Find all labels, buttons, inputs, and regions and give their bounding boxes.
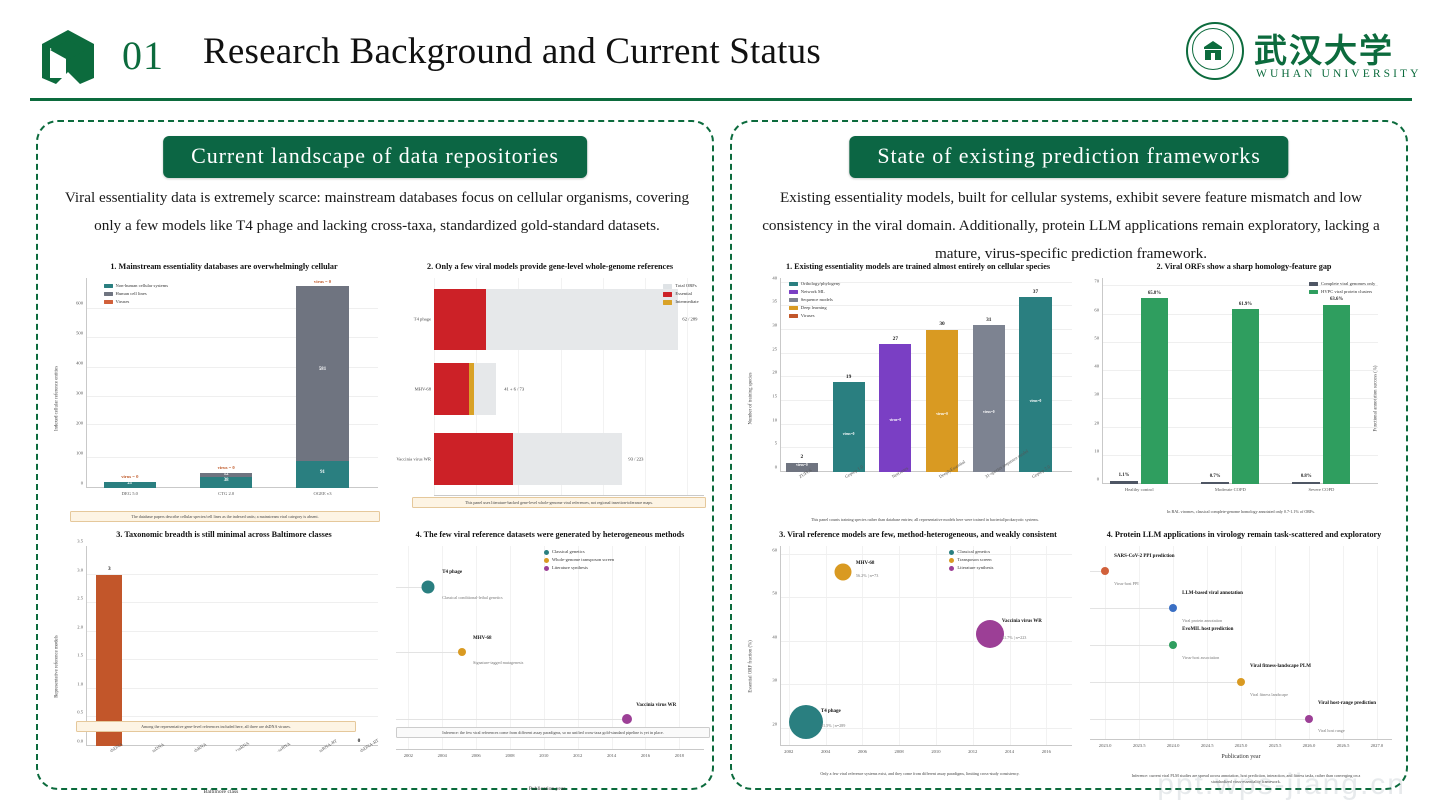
bar-mhv-essential: [434, 363, 469, 415]
scatter-sublabel: 56.2% | n=73: [856, 573, 878, 578]
chart-R3-ylabel: Essential ORF fraction (%): [749, 640, 754, 692]
bar-severe-hvpc: [1323, 305, 1351, 484]
bar-value: 38: [200, 478, 253, 483]
legend-swatch: [949, 558, 954, 563]
chart-R4-xtick: 2025.0: [1235, 743, 1248, 748]
panel-right-description: Existing essentiality models, built for …: [754, 184, 1388, 268]
bar-deeplyessential: virus=0: [926, 330, 958, 472]
hbar-label: MHV-68: [415, 387, 431, 392]
chart-R1-ytick: 35: [772, 299, 777, 304]
chart-L3-ytick: 0.5: [77, 710, 83, 715]
chart-R4-xlabel: Publication year: [1076, 754, 1406, 760]
chart-L3-ylabel: Representative reference models: [55, 635, 60, 698]
chart-R1-title: 1. Existing essentiality models are trai…: [756, 262, 1080, 272]
chart-R1-ylabel: Number of training species: [749, 372, 754, 424]
legend-label: Orthology/phylogeny: [801, 280, 841, 288]
chart-R4-xtick: 2026.5: [1337, 743, 1350, 748]
bar-annotation: virus=0: [879, 418, 911, 422]
legend-swatch: [544, 566, 549, 571]
chart-R2: 2. Viral ORFs show a sharp homology-feat…: [1076, 262, 1406, 530]
scatter-point-sars-ppi: [1101, 567, 1109, 575]
chart-R3-xtick: 2004: [821, 749, 830, 754]
chart-R2-caption: In BAL viromes, classical complete-genom…: [1116, 509, 1366, 514]
bar-t4-essential: [434, 289, 486, 350]
university-building-icon: [1200, 40, 1226, 62]
chart-L1-ytick: 200: [76, 420, 83, 425]
chart-R1-ytick: 20: [772, 370, 777, 375]
bar-healthy-genomes: [1110, 481, 1138, 484]
chart-L3: 3. Taxonomic breadth is still minimal ac…: [56, 530, 386, 798]
chart-R1-ytick: 5: [775, 441, 777, 446]
legend-label: Deep learning: [801, 304, 827, 312]
chart-L4-caption: Inference: the few viral references come…: [396, 727, 710, 738]
chart-R2-plot: 0 10 20 30 40 50 60 70 1.1% 65.8% 0.7% 6…: [1102, 278, 1378, 484]
legend-swatch: [663, 300, 672, 305]
scatter-label: EvoMIL host prediction: [1182, 627, 1233, 632]
legend-label: Total ORFs: [675, 282, 696, 290]
hbar-label: Vaccinia virus WR: [396, 456, 431, 461]
bar-ctg-human: 12: [200, 473, 253, 477]
chart-L1-xtick: CTG 2.0: [218, 491, 234, 496]
bar-moderate-hvpc: [1232, 309, 1260, 484]
chart-R1-ytick: 0: [775, 465, 777, 470]
virus-annotation: virus = 0: [104, 474, 157, 479]
chart-R4-xtick: 2023.0: [1099, 743, 1112, 748]
legend-label: HVPC viral protein clusters: [1321, 288, 1372, 296]
chart-L3-xtick: ssDNA: [151, 742, 165, 753]
bar-value: 61.9%: [1232, 302, 1260, 307]
chart-L3-plot: 0.0 0.5 1.0 1.5 2.0 2.5 3.0 3.5 3 0 dsDN…: [86, 546, 378, 746]
scatter-sublabel: Signature-tagged mutagenesis: [473, 660, 523, 665]
chart-R1-ytick: 40: [772, 275, 777, 280]
chart-R2-ytick: 50: [1094, 335, 1099, 340]
scatter-point-mhv: [834, 564, 851, 581]
virus-annotation: virus = 0: [200, 465, 253, 470]
chart-L1-caption: The database papers describe cellular sp…: [70, 511, 380, 522]
chart-R4-xtick: 2027.0: [1371, 743, 1384, 748]
hbar-label: T4 phage: [414, 317, 431, 322]
scatter-point-evomil: [1169, 641, 1177, 649]
bar-deg-noncell: 21: [104, 482, 157, 488]
chart-L4-plot: T4 phage Classical conditional-lethal ge…: [396, 546, 704, 750]
chart-L1-ytick: 100: [76, 450, 83, 455]
panel-data-repositories: Current landscape of data repositories V…: [36, 120, 714, 790]
bar-value: 3: [96, 566, 122, 572]
chart-L4-title: 4. The few viral reference datasets were…: [388, 530, 712, 540]
chart-L4-xtick: 2004: [438, 753, 447, 758]
chart-R2-ytick: 40: [1094, 364, 1099, 369]
hbar-value: 62 / 289: [682, 317, 697, 322]
chart-R3-plot: 20 30 40 50 60 T4 phage 21.5% | n=289 MH…: [780, 546, 1072, 746]
scatter-point-mhv: [458, 648, 466, 656]
legend-label: Essential: [675, 290, 692, 298]
bar-geptop1: virus=0: [833, 382, 865, 472]
bar-annotation: virus=0: [833, 432, 865, 436]
scatter-sublabel: Viral host range: [1318, 728, 1345, 733]
legend-swatch: [789, 306, 798, 311]
chart-R2-ytick: 20: [1094, 420, 1099, 425]
legend-swatch: [663, 284, 672, 289]
legend-swatch: [104, 300, 113, 305]
chart-L3-xlabel: Baltimore class: [56, 789, 386, 795]
bar-value: 581: [296, 367, 349, 372]
scatter-label: Vaccinia virus WR: [1002, 619, 1042, 624]
chart-R3-ytick: 50: [772, 591, 777, 596]
legend-label: Transposon screen: [957, 556, 991, 564]
legend-swatch: [789, 314, 798, 319]
university-name-cn: 武汉大学: [1254, 24, 1394, 72]
chart-L1-ytick: 0: [81, 481, 83, 486]
legend-swatch: [789, 282, 798, 287]
chart-R3-xtick: 2012: [968, 749, 977, 754]
legend-swatch: [663, 292, 672, 297]
legend-label: Classical genetics: [957, 548, 990, 556]
chart-R2-ytick: 70: [1094, 279, 1099, 284]
bar-annotation: virus=0: [1019, 399, 1051, 403]
legend-label: Classical genetics: [552, 548, 585, 556]
bar-mhv-intermediate: [469, 363, 474, 415]
bar-vacc-essential: [434, 433, 513, 485]
chart-R3-ytick: 30: [772, 678, 777, 683]
chart-L1-plot: 0 100 200 300 400 500 600 21 virus = 0 3…: [86, 278, 378, 488]
scatter-point-vaccinia: [976, 620, 1004, 648]
panel-right-badge: State of existing prediction frameworks: [849, 136, 1288, 178]
legend-swatch: [544, 558, 549, 563]
scatter-sublabel: 21.5% | n=289: [821, 723, 846, 728]
bar-healthy-hvpc: [1141, 298, 1169, 484]
bar-value: 27: [879, 336, 911, 342]
chart-R3-xtick: 2016: [1042, 749, 1051, 754]
chart-L1-legend: Non-human cellular systems Human cell li…: [104, 282, 169, 306]
chart-L2-plot: T4 phage 62 / 289 MHV-68 41 + 6 / 73 Vac…: [434, 278, 704, 496]
legend-label: Network ML: [801, 288, 825, 296]
chart-L4-xtick: 2014: [607, 753, 616, 758]
scatter-point-llm-annotation: [1169, 604, 1177, 612]
scatter-sublabel: Virus-host PPI: [1114, 581, 1139, 586]
chart-R3: 3. Viral reference models are few, metho…: [750, 530, 1080, 798]
chart-R4-xtick: 2025.5: [1269, 743, 1282, 748]
scatter-label: LLM-based viral annotation: [1182, 591, 1243, 596]
chart-R3-caption: Only a few viral reference systems exist…: [800, 771, 1040, 776]
legend-swatch: [1309, 290, 1318, 295]
legend-label: Viruses: [801, 312, 815, 320]
chart-R3-ytick: 40: [772, 634, 777, 639]
slide-header: 01 Research Background and Current Statu…: [0, 0, 1440, 105]
chart-L2-legend: Total ORFs Essential Intermediate: [663, 282, 698, 306]
scatter-label: Viral host-range prediction: [1318, 701, 1376, 706]
chart-R3-xtick: 2006: [858, 749, 867, 754]
scatter-point-host-range: [1305, 715, 1313, 723]
chart-L4-xtick: 2006: [471, 753, 480, 758]
bar-ogee-human: 581: [296, 286, 349, 460]
scatter-sublabel: 41.7% | n=223: [1002, 635, 1027, 640]
scatter-label: T4 phage: [821, 709, 841, 714]
chart-L1-ytick: 400: [76, 361, 83, 366]
panel-left-badge: Current landscape of data repositories: [163, 136, 587, 178]
chart-L4-xtick: 2010: [539, 753, 548, 758]
chart-R3-ytick: 60: [772, 547, 777, 552]
chart-L3-ytick: 3.0: [77, 567, 83, 572]
legend-swatch: [789, 290, 798, 295]
scatter-label: T4 phage: [442, 570, 462, 575]
chart-R4-title: 4. Protein LLM applications in virology …: [1082, 530, 1406, 540]
chart-R2-title: 2. Viral ORFs show a sharp homology-feat…: [1082, 262, 1406, 272]
bar-annotation: virus=0: [786, 463, 818, 467]
chart-L1-ytick: 500: [76, 331, 83, 336]
chart-R1-ytick: 25: [772, 346, 777, 351]
chart-R4-caption: Inference: current viral PLM studies are…: [1131, 773, 1361, 784]
scatter-label: Viral fitness-landscape PLM: [1250, 664, 1311, 669]
chart-R2-ytick: 0: [1097, 477, 1099, 482]
chart-R3-xtick: 2014: [1005, 749, 1014, 754]
bar-value: 1.1%: [1110, 473, 1138, 478]
chart-L4-legend: Classical genetics Whole-genome transpos…: [544, 548, 614, 572]
legend-label: Complete viral genomes only: [1321, 280, 1375, 288]
legend-label: Non-human cellular systems: [116, 282, 169, 290]
chart-L4: 4. The few viral reference datasets were…: [382, 530, 712, 798]
chart-R3-xtick: 2002: [784, 749, 793, 754]
bar-value: 30: [926, 321, 958, 327]
scatter-point-t4: [422, 580, 435, 593]
bar-value: 0.8%: [1292, 474, 1320, 479]
panel-prediction-frameworks: State of existing prediction frameworks …: [730, 120, 1408, 790]
chart-R1-caption: This panel counts training species rathe…: [790, 517, 1060, 522]
bar-value: 2: [786, 454, 818, 460]
chart-L3-caption: Among the representative gene-level refe…: [76, 721, 356, 732]
bar-moderate-genomes: [1201, 482, 1229, 484]
bar-ogee-noncell: 91: [296, 461, 349, 488]
page-title: Research Background and Current Status: [203, 30, 821, 73]
chart-R4-xtick: 2023.5: [1133, 743, 1146, 748]
chart-L3-ytick: 1.0: [77, 681, 83, 686]
legend-label: Literature synthesis: [552, 564, 588, 572]
scatter-label: SARS-CoV-2 PPI prediction: [1114, 554, 1174, 559]
bar-geptop2: virus=0: [1019, 297, 1051, 472]
chart-L3-xtick: -ssRNA: [276, 741, 291, 753]
chart-R2-xtick: Severe COPD: [1308, 487, 1334, 492]
chart-L3-title: 3. Taxonomic breadth is still minimal ac…: [62, 530, 386, 540]
chart-L4-xtick: 2002: [404, 753, 413, 758]
bar-31species: virus=0: [973, 325, 1005, 472]
bar-value: 63.6%: [1323, 297, 1351, 302]
legend-label: Human cell lines: [116, 290, 147, 298]
university-name-en: WUHAN UNIVERSITY: [1256, 68, 1422, 80]
bar-value: 0.7%: [1201, 474, 1229, 479]
slide-number: 01: [122, 32, 164, 79]
legend-swatch: [949, 550, 954, 555]
scatter-sublabel: Viral protein annotation: [1182, 618, 1222, 623]
chart-L1: 1. Mainstream essentiality databases are…: [56, 262, 386, 530]
chart-L1-xtick: OGEE v3: [314, 491, 332, 496]
chart-R1-ytick: 30: [772, 323, 777, 328]
bar-value: 91: [296, 470, 349, 475]
chart-L3-ytick: 2.5: [77, 596, 83, 601]
chart-L3-ytick: 1.5: [77, 653, 83, 658]
chart-L3-ytick: 0.0: [77, 739, 83, 744]
chart-R3-xtick: 2010: [931, 749, 940, 754]
chart-R4-plot: SARS-CoV-2 PPI prediction Virus-host PPI…: [1090, 546, 1392, 740]
chart-L3-ytick: 2.0: [77, 624, 83, 629]
bar-severe-genomes: [1292, 482, 1320, 484]
legend-swatch: [104, 284, 113, 289]
scatter-point-fitness-plm: [1237, 678, 1245, 686]
scatter-label: MHV-68: [473, 636, 492, 641]
chart-L1-ytick: 300: [76, 390, 83, 395]
legend-swatch: [1309, 282, 1318, 287]
chart-R2-xtick: Healthy control: [1125, 487, 1154, 492]
chart-R3-ytick: 20: [772, 721, 777, 726]
scatter-label: Vaccinia virus WR: [636, 703, 676, 708]
chart-L4-xtick: 2012: [573, 753, 582, 758]
chart-R2-ytick: 10: [1094, 448, 1099, 453]
scatter-sublabel: Viral fitness landscape: [1250, 692, 1288, 697]
bar-value: 19: [833, 374, 865, 380]
legend-label: Sequence models: [801, 296, 833, 304]
bar-annotation: virus=0: [926, 412, 958, 416]
chart-R4-xtick: 2024.0: [1167, 743, 1180, 748]
bar-value: 12: [200, 472, 253, 477]
chart-R4-xtick: 2026.0: [1303, 743, 1316, 748]
header-divider: [30, 98, 1412, 101]
chart-L1-title: 1. Mainstream essentiality databases are…: [62, 262, 386, 272]
chart-R2-legend: Complete viral genomes only HVPC viral p…: [1309, 280, 1375, 296]
virus-annotation: virus = 0: [296, 279, 349, 284]
chart-L2-title: 2. Only a few viral models provide gene-…: [388, 262, 712, 272]
hbar-value: 93 / 223: [628, 456, 643, 461]
chart-L3-ytick: 3.5: [77, 539, 83, 544]
bar-zupls: virus=0: [786, 463, 818, 473]
bar-dsdna: [96, 575, 122, 746]
chart-L4-xtick: 2008: [505, 753, 514, 758]
chart-R2-ytick: 30: [1094, 392, 1099, 397]
chart-R1-plot: 0 5 10 15 20 25 30 35 40 virus=0 2 virus…: [780, 278, 1072, 472]
chart-L4-xtick: 2018: [675, 753, 684, 758]
legend-swatch: [789, 298, 798, 303]
legend-label: Literature synthesis: [957, 564, 993, 572]
legend-label: Whole-genome transposon screen: [552, 556, 614, 564]
chart-R3-xtick: 2008: [895, 749, 904, 754]
bar-value: 31: [973, 317, 1005, 323]
chart-R2-xtick: Moderate COPD: [1215, 487, 1246, 492]
chart-R2-ytick: 60: [1094, 307, 1099, 312]
chart-L1-ylabel: Indexed cellular reference entities: [55, 366, 60, 431]
graduation-cap-logo-icon: [38, 28, 98, 86]
chart-L4-xlabel: Publication year: [382, 786, 712, 792]
legend-swatch: [544, 550, 549, 555]
bar-ctg-noncell: 38: [200, 477, 253, 488]
chart-L4-xtick: 2016: [641, 753, 650, 758]
chart-L2-caption: This panel uses literature-backed gene-l…: [412, 497, 706, 508]
chart-R4-xtick: 2024.5: [1201, 743, 1214, 748]
chart-R1-ytick: 15: [772, 394, 777, 399]
bar-value: 65.8%: [1141, 291, 1169, 296]
legend-label: Intermediate: [675, 298, 698, 306]
chart-L3-xtick: dsRNA: [193, 742, 207, 754]
legend-label: Viruses: [116, 298, 130, 306]
university-logo: 武汉大学 WUHAN UNIVERSITY: [1186, 22, 1422, 90]
chart-R3-legend: Classical genetics Transposon screen Lit…: [949, 548, 993, 572]
scatter-sublabel: Virus-host association: [1182, 655, 1219, 660]
scatter-label: MHV-68: [856, 561, 875, 566]
legend-swatch: [949, 566, 954, 571]
hbar-value: 41 + 6 / 73: [504, 387, 524, 392]
chart-R4: 4. Protein LLM applications in virology …: [1076, 530, 1406, 798]
bar-netgenes: virus=0: [879, 344, 911, 472]
chart-R1-legend: Orthology/phylogeny Network ML Sequence …: [789, 280, 841, 320]
bar-value: 21: [104, 481, 157, 486]
scatter-point-vaccinia: [622, 714, 632, 724]
chart-R1-ytick: 10: [772, 417, 777, 422]
chart-L3-xtick: +ssRNA: [234, 741, 250, 754]
panel-left-description: Viral essentiality data is extremely sca…: [60, 184, 694, 240]
scatter-point-t4: [789, 705, 823, 739]
chart-R3-title: 3. Viral reference models are few, metho…: [756, 530, 1080, 540]
scatter-sublabel: Classical conditional-lethal genetics: [442, 595, 502, 600]
bar-value: 37: [1019, 289, 1051, 295]
chart-L1-ytick: 600: [76, 301, 83, 306]
chart-R1: 1. Existing essentiality models are trai…: [750, 262, 1080, 530]
chart-L2: 2. Only a few viral models provide gene-…: [382, 262, 712, 530]
legend-swatch: [104, 292, 113, 297]
bar-annotation: virus=0: [973, 410, 1005, 414]
chart-L1-xtick: DEG 5.0: [122, 491, 138, 496]
